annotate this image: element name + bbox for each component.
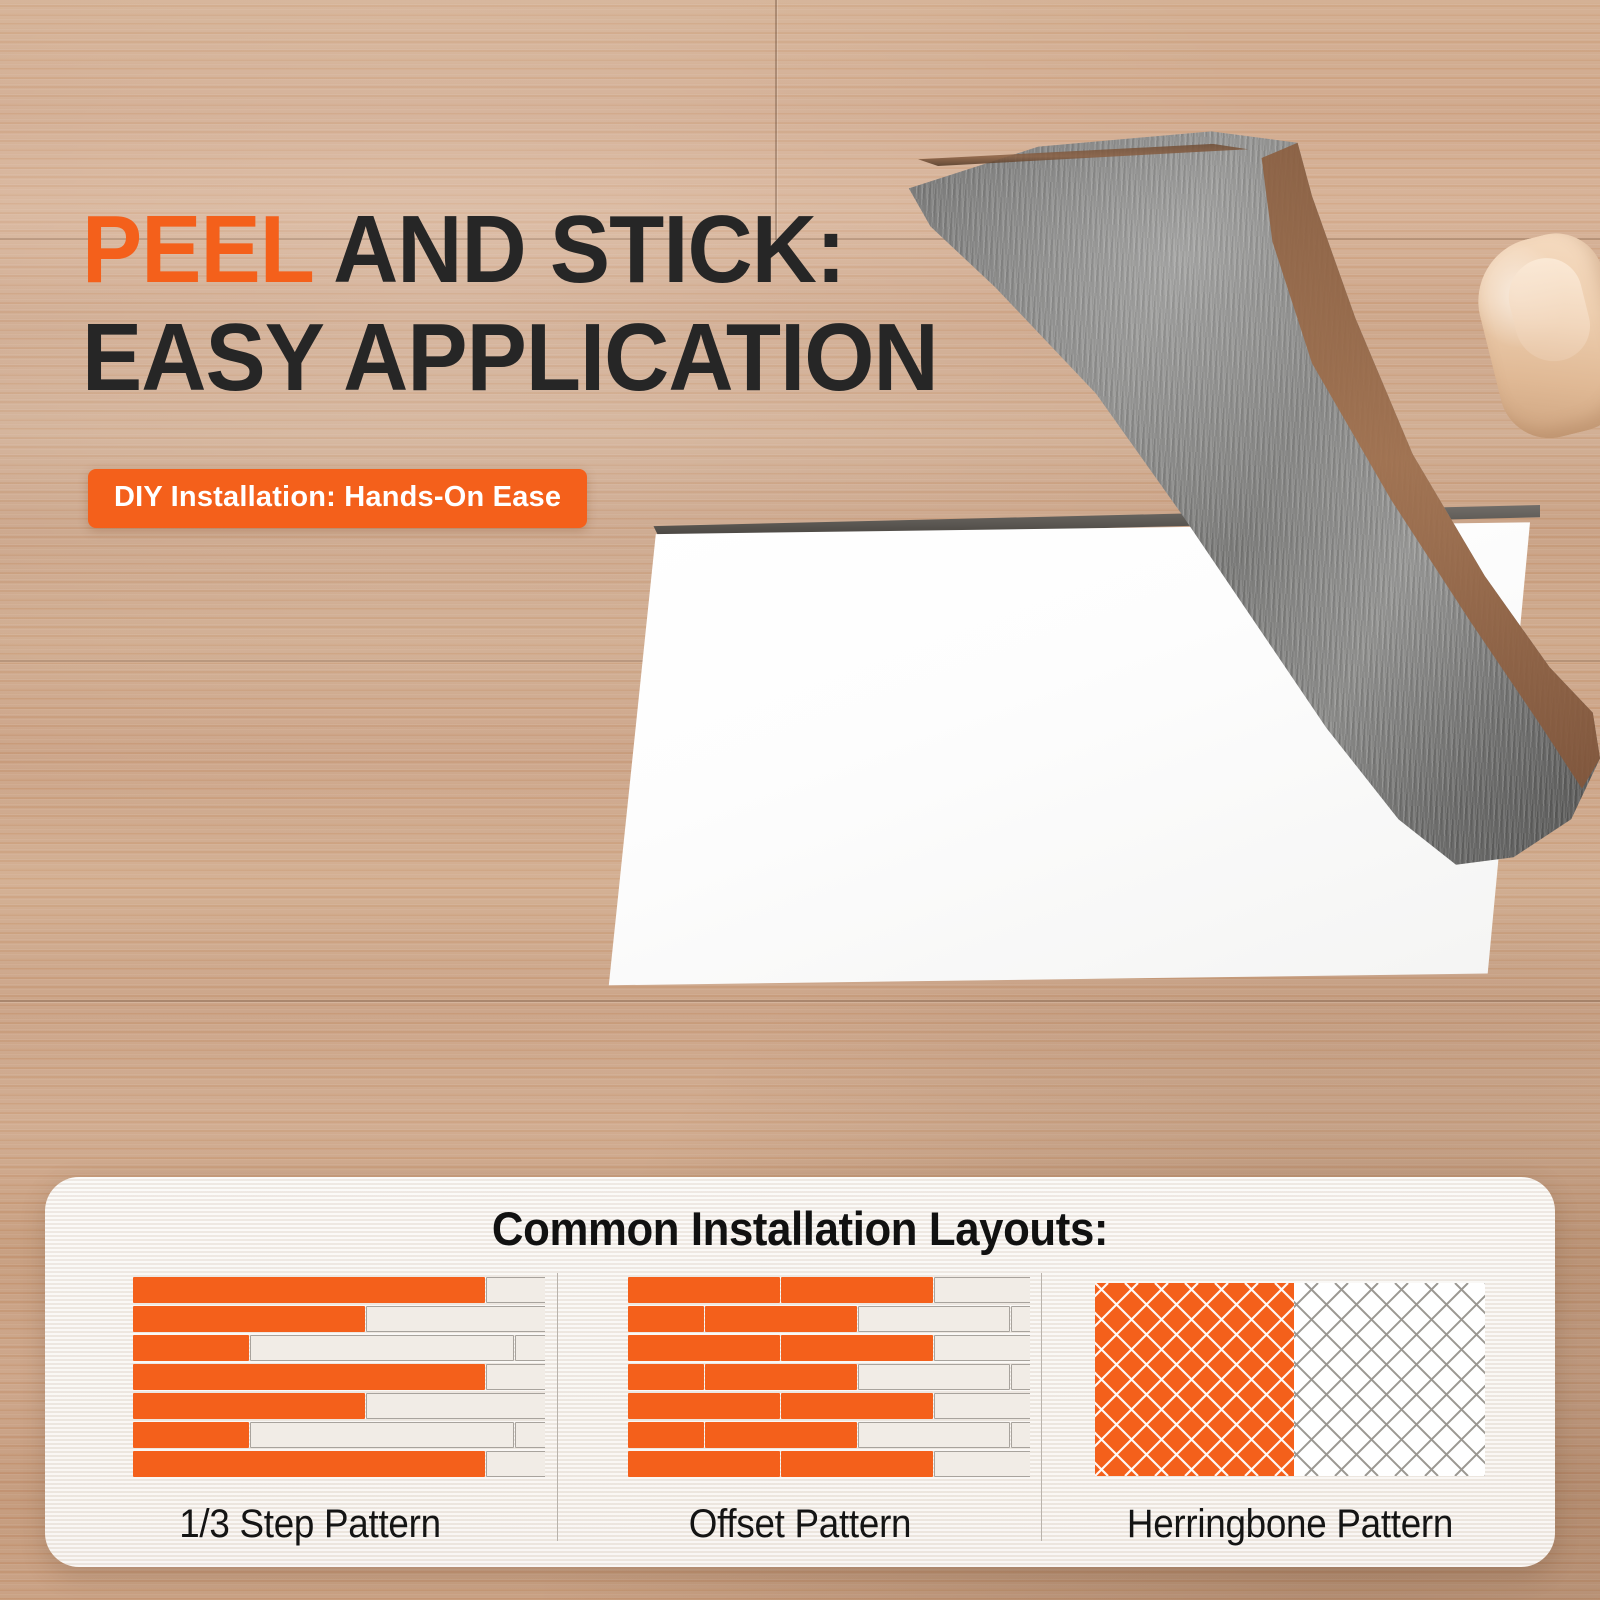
tile-highlighted	[628, 1306, 704, 1332]
tile-empty	[1011, 1306, 1030, 1332]
tile-empty	[366, 1306, 545, 1332]
tile-row	[570, 1451, 1030, 1477]
tile-row	[75, 1306, 545, 1332]
step-pattern-diagram	[75, 1277, 545, 1480]
floor-seam-horizontal	[0, 1000, 1600, 1002]
tile-highlighted	[628, 1335, 780, 1361]
headline-accent-word: PEEL	[82, 196, 312, 303]
installation-layouts-card: Common Installation Layouts: 1/3 Step Pa…	[45, 1177, 1555, 1567]
pattern-column-herringbone: Herringbone Pattern	[1055, 1277, 1525, 1547]
tile-row	[570, 1306, 1030, 1332]
tile-empty	[934, 1451, 1030, 1477]
product-marketing-image: PEEL AND STICK: EASY APPLICATION DIY Ins…	[0, 0, 1600, 1600]
tile-empty	[858, 1364, 1010, 1390]
tile-row	[570, 1422, 1030, 1448]
tile-highlighted	[133, 1277, 485, 1303]
tile-row	[75, 1422, 545, 1448]
tile-empty	[250, 1422, 514, 1448]
headline-line-1: PEEL AND STICK:	[82, 196, 928, 304]
tile-row	[75, 1277, 545, 1303]
pattern-label-herringbone: Herringbone Pattern	[1074, 1502, 1506, 1547]
herringbone-canvas	[1095, 1283, 1485, 1476]
tile-empty	[1011, 1364, 1030, 1390]
tile-empty	[486, 1364, 545, 1390]
tile-highlighted	[781, 1451, 933, 1477]
tile-empty	[515, 1335, 545, 1361]
tile-empty	[1011, 1422, 1030, 1448]
tile-row	[75, 1335, 545, 1361]
tile-highlighted	[781, 1393, 933, 1419]
tile-empty	[250, 1335, 514, 1361]
pattern-column-offset: Offset Pattern	[570, 1277, 1030, 1547]
tile-highlighted	[133, 1422, 249, 1448]
tile-empty	[486, 1451, 545, 1477]
tile-empty	[515, 1422, 545, 1448]
tile-row	[570, 1364, 1030, 1390]
tile-highlighted	[705, 1306, 857, 1332]
tile-row	[75, 1451, 545, 1477]
headline-line-2: EASY APPLICATION	[82, 304, 928, 412]
card-title: Common Installation Layouts:	[98, 1201, 1502, 1256]
tile-highlighted	[628, 1393, 780, 1419]
tile-empty	[934, 1393, 1030, 1419]
pattern-label-step: 1/3 Step Pattern	[94, 1502, 526, 1547]
status-badge: DIY Installation: Hands-On Ease	[88, 469, 587, 528]
pattern-column-step: 1/3 Step Pattern	[75, 1277, 545, 1547]
tile-row	[570, 1393, 1030, 1419]
page-title: PEEL AND STICK: EASY APPLICATION	[82, 196, 928, 411]
column-divider	[557, 1273, 558, 1541]
tile-empty	[366, 1393, 545, 1419]
tile-highlighted	[133, 1306, 365, 1332]
tile-highlighted	[705, 1422, 857, 1448]
column-divider	[1041, 1273, 1042, 1541]
tile-highlighted	[133, 1393, 365, 1419]
tile-row	[570, 1277, 1030, 1303]
tile-highlighted	[133, 1335, 249, 1361]
tile-highlighted	[705, 1364, 857, 1390]
tile-empty	[934, 1277, 1030, 1303]
tile-empty	[858, 1422, 1010, 1448]
tile-row	[75, 1364, 545, 1390]
tile-highlighted	[133, 1364, 485, 1390]
tile-highlighted	[133, 1451, 485, 1477]
tile-highlighted	[628, 1364, 704, 1390]
tile-highlighted	[781, 1335, 933, 1361]
headline-line-1-rest: AND STICK:	[312, 196, 845, 303]
peel-and-stick-vinyl-plank	[880, 120, 1600, 880]
tile-highlighted	[781, 1277, 933, 1303]
tile-empty	[486, 1277, 545, 1303]
tile-empty	[934, 1335, 1030, 1361]
tile-highlighted	[628, 1422, 704, 1448]
plank-gray-backing	[880, 120, 1600, 880]
tile-empty	[858, 1306, 1010, 1332]
tile-highlighted	[628, 1451, 780, 1477]
offset-pattern-diagram	[570, 1277, 1030, 1480]
tile-row	[570, 1335, 1030, 1361]
herringbone-plank-lines	[1095, 1283, 1485, 1476]
tile-row	[75, 1393, 545, 1419]
pattern-label-offset: Offset Pattern	[588, 1502, 1011, 1547]
herringbone-pattern-diagram	[1055, 1277, 1525, 1482]
tile-highlighted	[628, 1277, 780, 1303]
